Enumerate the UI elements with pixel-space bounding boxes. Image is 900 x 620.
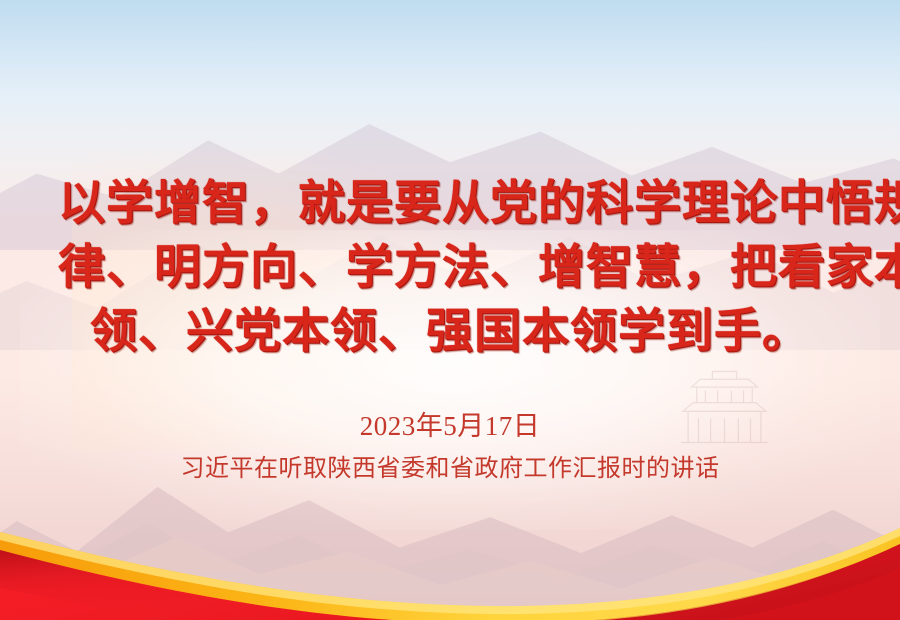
speech-caption: 习近平在听取陕西省委和省政府工作汇报时的讲话 — [0, 453, 900, 485]
headline-line-3: 领、兴党本领、强国本领学到手。 — [58, 300, 842, 364]
poster-canvas: 以学增智，就是要从党的科学理论中悟规 律、明方向、学方法、增智慧，把看家本 领、… — [0, 0, 900, 620]
meta-block: 2023年5月17日 习近平在听取陕西省委和省政府工作汇报时的讲话 — [0, 408, 900, 485]
mountain-layer-low2 — [0, 470, 900, 620]
red-gold-wave-ribbon — [0, 510, 900, 620]
headline-line-1: 以学增智，就是要从党的科学理论中悟规 — [58, 172, 842, 236]
headline-line-2: 律、明方向、学方法、增智慧，把看家本 — [58, 236, 842, 300]
mountain-layer-front — [0, 500, 900, 620]
speech-date: 2023年5月17日 — [0, 408, 900, 444]
headline-block: 以学增智，就是要从党的科学理论中悟规 律、明方向、学方法、增智慧，把看家本 领、… — [0, 172, 900, 364]
